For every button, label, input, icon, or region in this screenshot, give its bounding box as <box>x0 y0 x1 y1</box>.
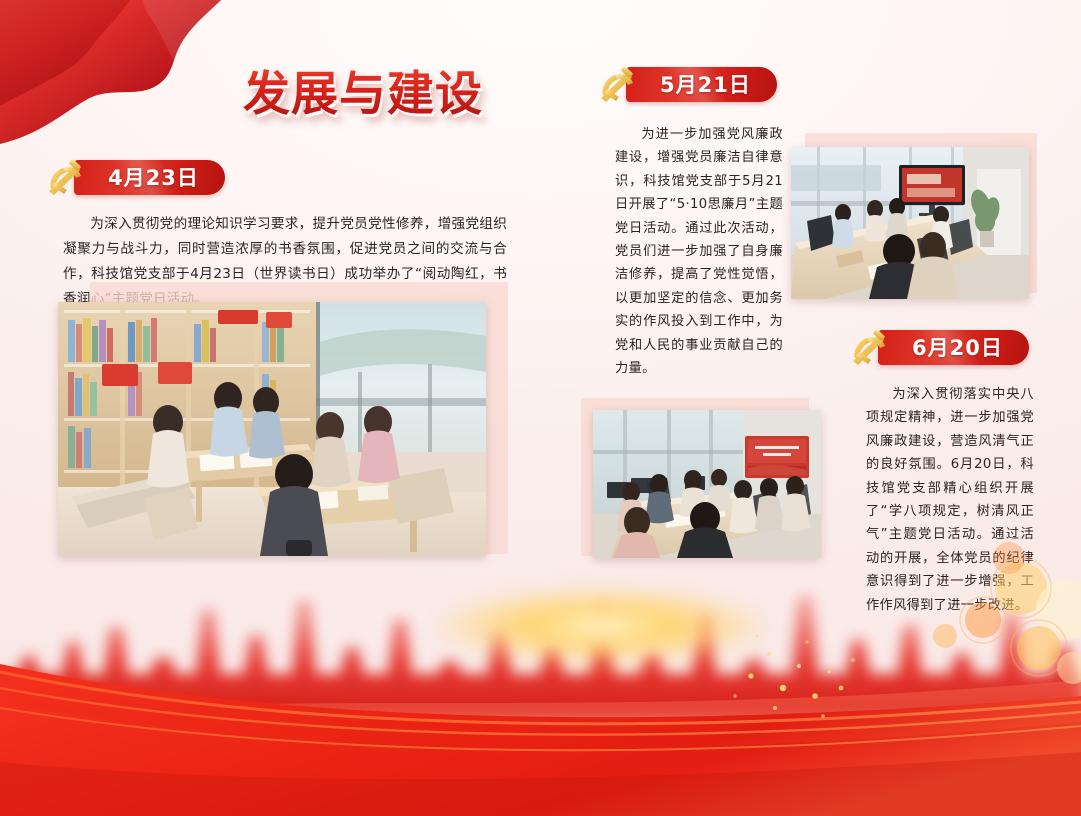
paragraph-june20: 为深入贯彻落实中央八项规定精神，进一步加强党风廉政建设，营造风清气正的良好氛围。… <box>866 383 1034 617</box>
date-banner-june20: 6月20日 <box>878 330 1029 365</box>
left-page: 4月23日 为深入贯彻党的理论知识学习要求，提升党员党性修养，增强党组织凝聚力与… <box>0 0 540 816</box>
photo-frame-june20 <box>581 398 827 566</box>
date-label-april23: 4月23日 <box>74 162 225 192</box>
party-emblem-icon <box>846 325 892 369</box>
date-badge-april23: 4月23日 <box>42 157 225 197</box>
paragraph-may21: 为进一步加强党风廉政建设，增强党员廉洁自律意识，科技馆党支部于5月21日开展了“… <box>615 123 783 380</box>
paragraph-may21-text: 为进一步加强党风廉政建设，增强党员廉洁自律意识，科技馆党支部于5月21日开展了“… <box>615 123 783 380</box>
party-emblem-icon <box>42 155 88 199</box>
party-emblem-icon <box>594 62 640 106</box>
date-label-may21: 5月21日 <box>626 69 777 99</box>
date-label-june20: 6月20日 <box>878 332 1029 362</box>
photo-meeting-room-banner <box>593 410 821 558</box>
right-page: 5月21日 为进一步加强党风廉政建设，增强党员廉洁自律意识，科技馆党支部于5月2… <box>541 0 1081 816</box>
date-badge-june20: 6月20日 <box>846 327 1029 367</box>
photo-library-reading-room <box>58 302 486 556</box>
spread-page: 发展与建设 <box>0 0 1081 816</box>
photo-frame-april23 <box>58 282 508 562</box>
photo-conference-room <box>791 147 1029 299</box>
paragraph-june20-text: 为深入贯彻落实中央八项规定精神，进一步加强党风廉政建设，营造风清气正的良好氛围。… <box>866 383 1034 617</box>
page-number-left: 19 <box>26 765 49 788</box>
page-number-right: 20 <box>1032 765 1055 788</box>
date-banner-may21: 5月21日 <box>626 67 777 102</box>
date-banner-april23: 4月23日 <box>74 160 225 195</box>
date-badge-may21: 5月21日 <box>594 64 777 104</box>
photo-frame-may21 <box>791 133 1041 305</box>
